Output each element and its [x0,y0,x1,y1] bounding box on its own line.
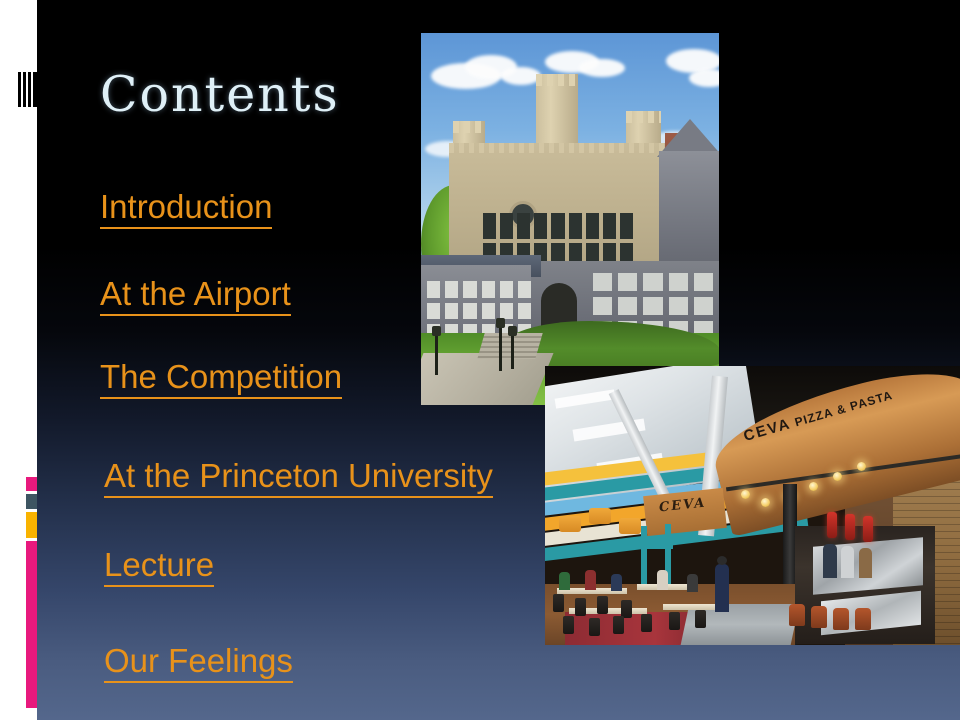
link-introduction[interactable]: Introduction [100,190,272,229]
slide-canvas: Contents Introduction At the Airport The… [0,0,960,720]
accent-block-amber [26,512,37,538]
link-lecture[interactable]: Lecture [104,548,214,587]
link-our-feelings[interactable]: Our Feelings [104,644,293,683]
barcode-bar [18,72,21,107]
link-at-the-airport[interactable]: At the Airport [100,277,291,316]
barcode-bar [28,72,31,107]
link-at-the-princeton-university[interactable]: At the Princeton University [104,459,493,498]
accent-block-magenta-small [26,477,37,491]
barcode-bar [23,72,26,107]
accent-block-slate [26,494,37,509]
contents-link-list: Introduction At the Airport The Competit… [0,0,960,720]
barcode-bar [33,72,37,107]
link-the-competition[interactable]: The Competition [100,360,342,399]
barcode-decoration-icon [18,72,37,107]
accent-bar-magenta [26,541,37,708]
